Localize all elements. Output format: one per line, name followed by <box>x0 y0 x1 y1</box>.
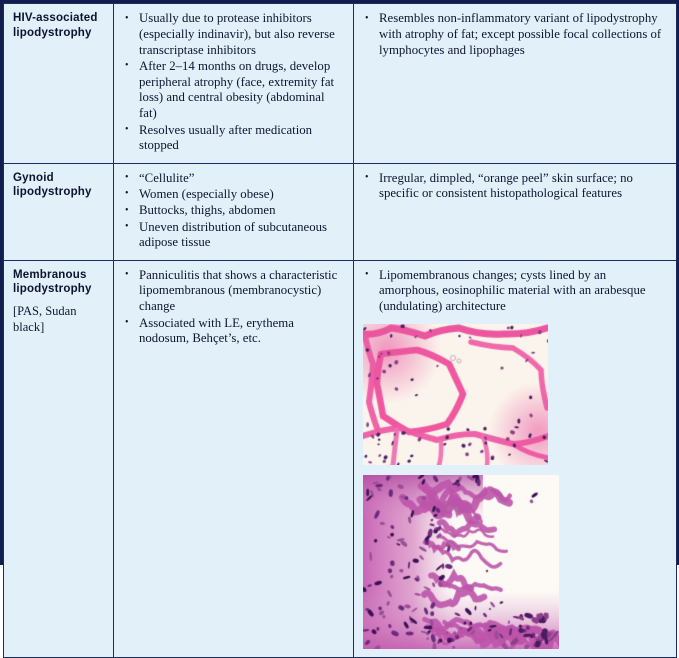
list-item: Associated with LE, erythema nodosum, Be… <box>123 316 345 348</box>
list-item: Buttocks, thighs, abdomen <box>123 203 345 219</box>
lipomembranous-cysts-low-power-image <box>363 324 548 465</box>
clinical-cell: Usually due to protease inhibitors (espe… <box>114 4 354 164</box>
clinical-cell: Panniculitis that shows a characteristic… <box>114 260 354 657</box>
entity-cell: HIV-associated lipodystrophy <box>4 4 114 164</box>
list-item: Lipomembranous changes; cysts lined by a… <box>363 268 668 315</box>
histology-cell: Resembles non-inflammatory variant of li… <box>354 4 677 164</box>
histology-figure-stack <box>363 324 668 649</box>
clinical-bullet-list: Panniculitis that shows a characteristic… <box>123 268 345 347</box>
table-row: Membranous lipodystrophy [PAS, Sudan bla… <box>4 260 677 657</box>
entity-name: Gynoid lipodystrophy <box>13 171 105 200</box>
list-item: Women (especially obese) <box>123 187 345 203</box>
list-item: Irregular, dimpled, “orange peel” skin s… <box>363 171 668 203</box>
entity-cell: Membranous lipodystrophy [PAS, Sudan bla… <box>4 260 114 657</box>
entity-stains: [PAS, Sudan black] <box>13 304 105 336</box>
list-item: Usually due to protease inhibitors (espe… <box>123 11 345 58</box>
entity-name: Membranous lipodystrophy <box>13 268 105 297</box>
clinical-cell: “Cellulite” Women (especially obese) But… <box>114 163 354 260</box>
clinical-bullet-list: “Cellulite” Women (especially obese) But… <box>123 171 345 251</box>
list-item: “Cellulite” <box>123 171 345 187</box>
table: HIV-associated lipodystrophy Usually due… <box>3 3 677 658</box>
histology-bullet-list: Irregular, dimpled, “orange peel” skin s… <box>363 171 668 203</box>
list-item: Resembles non-inflammatory variant of li… <box>363 11 668 58</box>
entity-cell: Gynoid lipodystrophy <box>4 163 114 260</box>
arabesque-membrane-high-power-image <box>363 475 559 649</box>
histology-bullet-list: Lipomembranous changes; cysts lined by a… <box>363 268 668 315</box>
list-item: Panniculitis that shows a characteristic… <box>123 268 345 315</box>
histology-cell: Lipomembranous changes; cysts lined by a… <box>354 260 677 657</box>
clinical-bullet-list: Usually due to protease inhibitors (espe… <box>123 11 345 154</box>
table-row: HIV-associated lipodystrophy Usually due… <box>4 4 677 164</box>
histology-cell: Irregular, dimpled, “orange peel” skin s… <box>354 163 677 260</box>
table-row: Gynoid lipodystrophy “Cellulite” Women (… <box>4 163 677 260</box>
list-item: Uneven distribution of subcutaneous adip… <box>123 220 345 252</box>
histology-bullet-list: Resembles non-inflammatory variant of li… <box>363 11 668 58</box>
lipodystrophy-comparison-table: HIV-associated lipodystrophy Usually due… <box>0 0 679 565</box>
table-body: HIV-associated lipodystrophy Usually due… <box>4 4 677 658</box>
list-item: After 2–14 months on drugs, develop peri… <box>123 59 345 122</box>
entity-name: HIV-associated lipodystrophy <box>13 11 105 40</box>
list-item: Resolves usually after medication stoppe… <box>123 123 345 155</box>
